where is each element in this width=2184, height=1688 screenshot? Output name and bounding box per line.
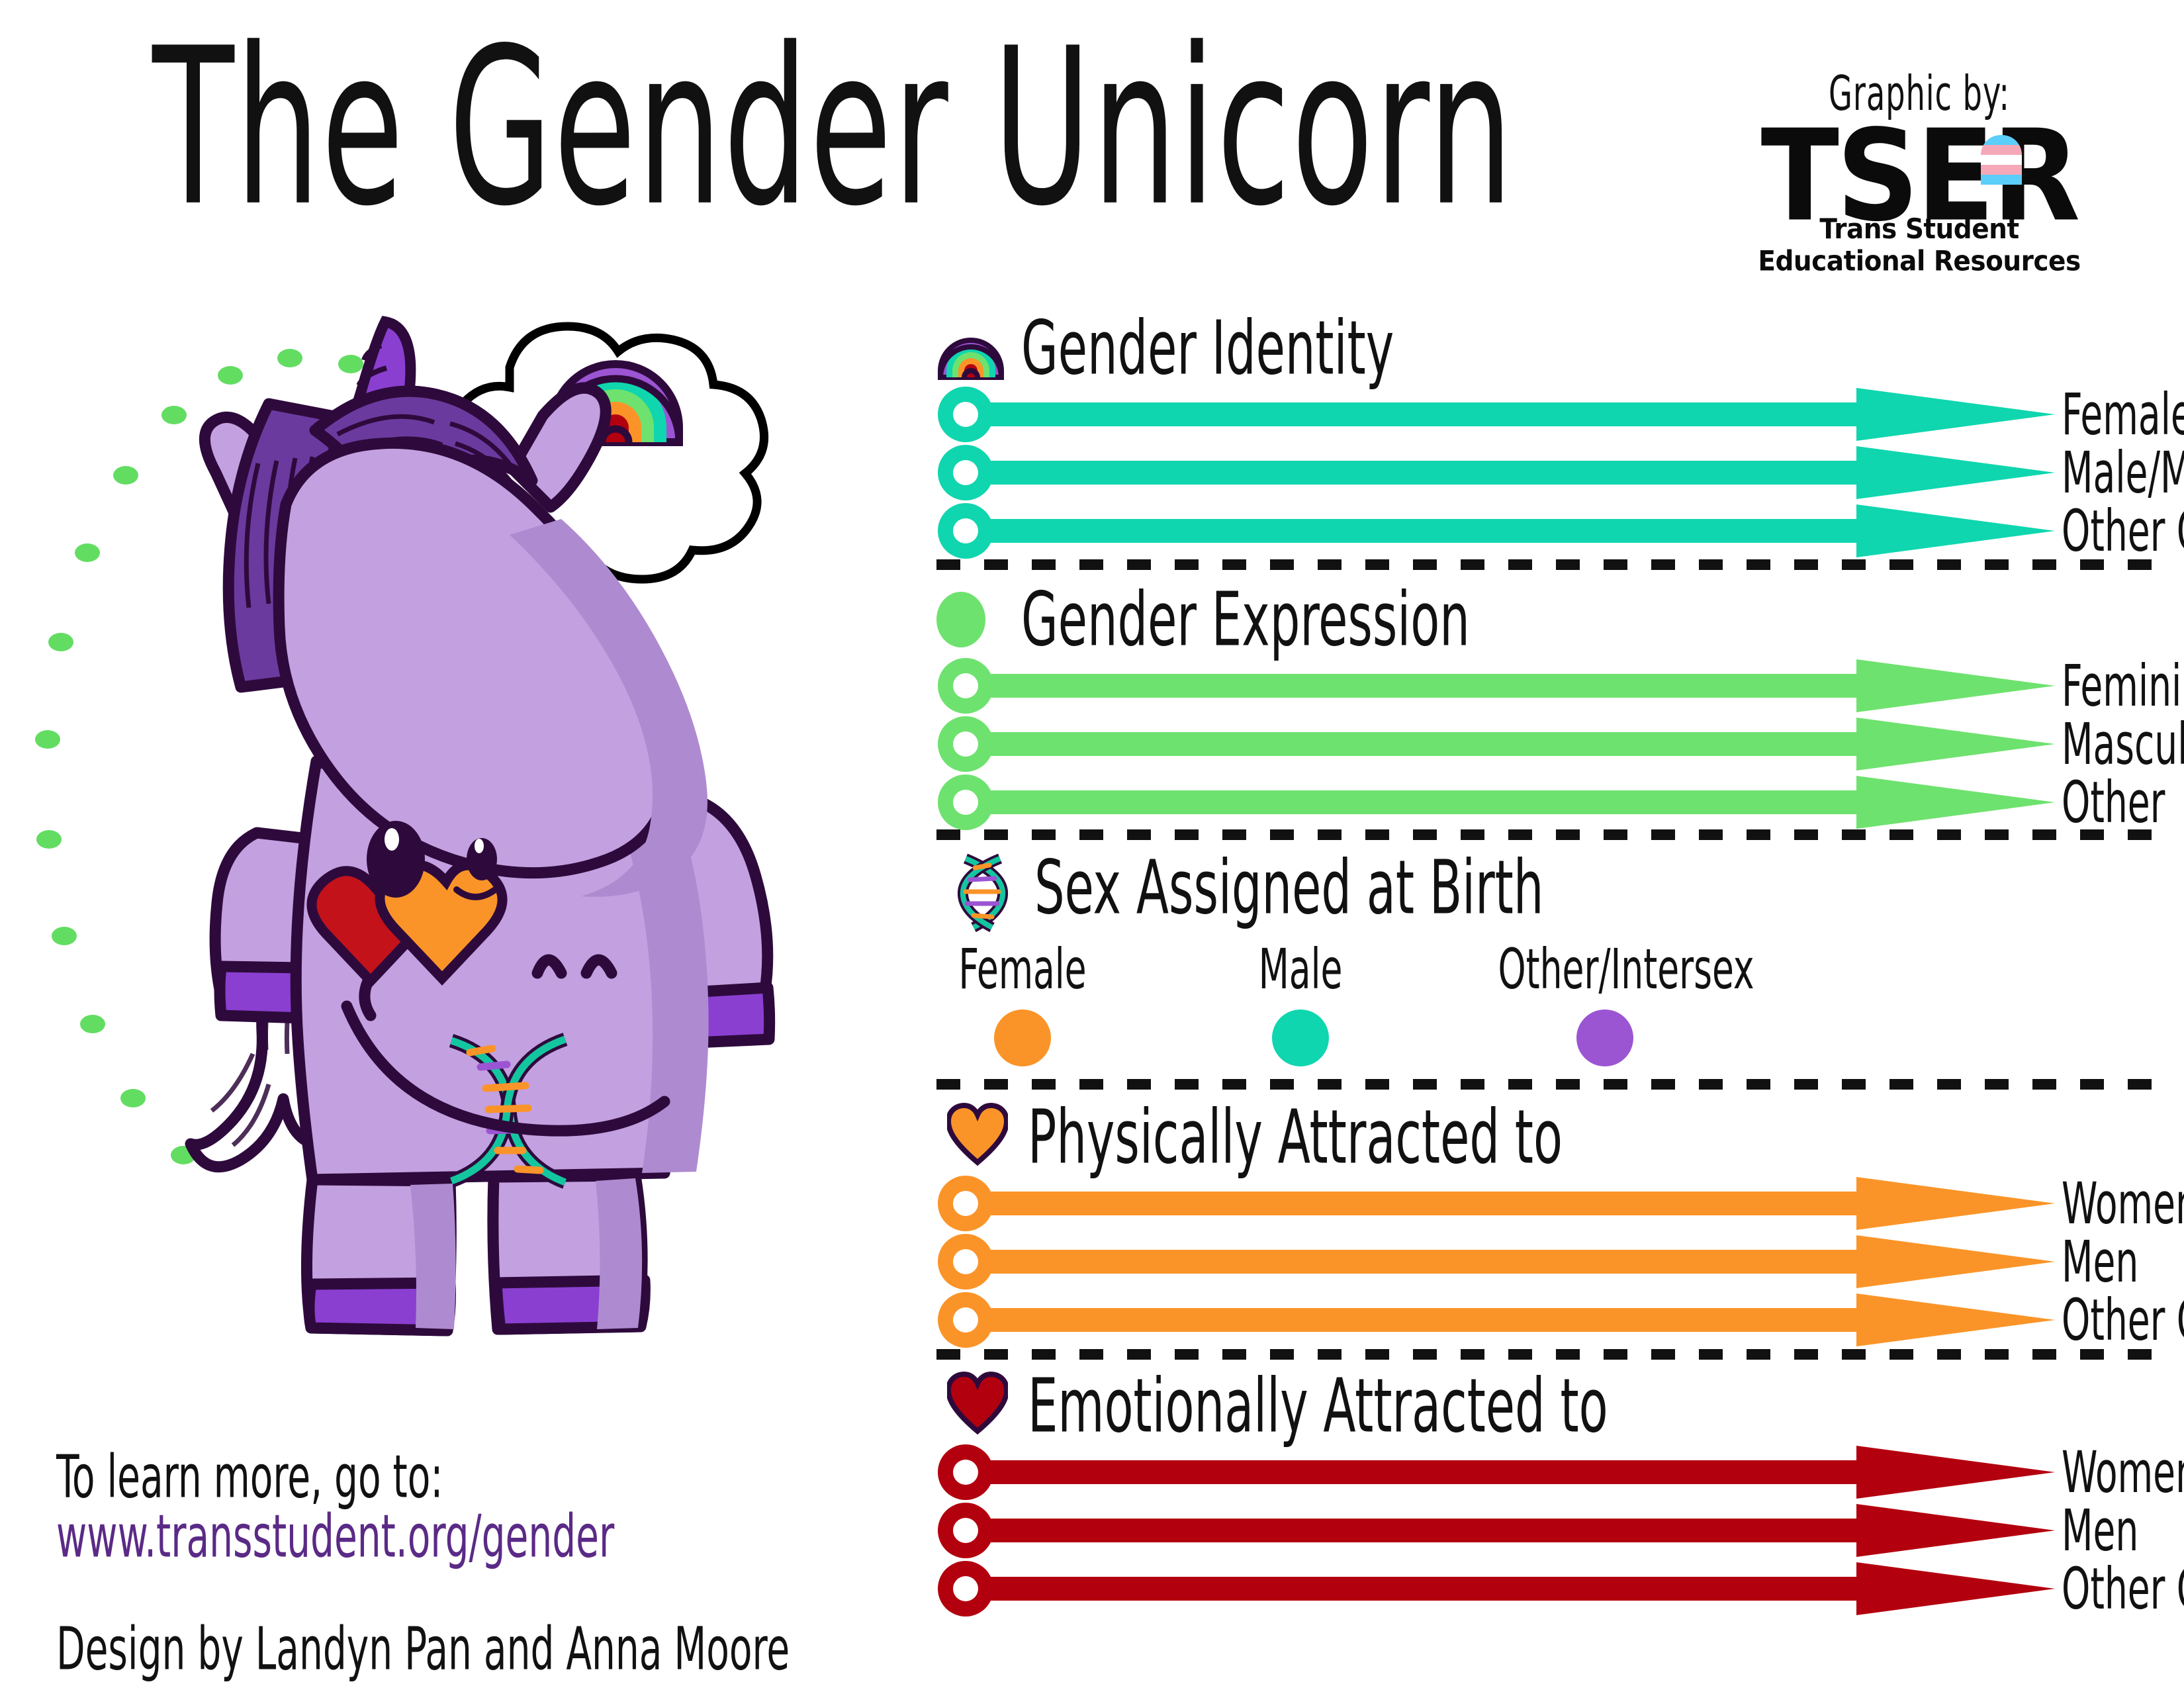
- section-gender-expression: Gender Expression Feminine Masculine Oth…: [936, 583, 2174, 831]
- section-title: Gender Expression: [1021, 577, 1470, 663]
- trans-flag-icon: [1981, 135, 2022, 185]
- tser-wordmark: TSER: [1747, 118, 2091, 217]
- section-title: Sex Assigned at Birth: [1034, 845, 1543, 931]
- sab-dot-other: [1576, 1009, 1633, 1066]
- arrow-label: Other Gender(s): [2062, 498, 2184, 565]
- arrow-label: Women: [2062, 1439, 2184, 1506]
- section-divider: [936, 1349, 2174, 1360]
- green-dot: [36, 830, 62, 849]
- dna-icon: [951, 853, 1012, 922]
- sab-label: Other/Intersex: [1498, 937, 1712, 1002]
- section-emotionally-attracted-to: Emotionally Attracted to Women Men Other…: [936, 1369, 2174, 1618]
- sab-dot-male: [1272, 1009, 1329, 1066]
- green-dot: [113, 466, 138, 485]
- arrow-row: Women: [936, 1174, 2174, 1233]
- green-dot: [80, 1015, 105, 1033]
- arrow-label: Masculine: [2062, 711, 2184, 778]
- section-title: Physically Attracted to: [1028, 1094, 1563, 1181]
- section-sex-assigned-at-birth: Sex Assigned at Birth Female Male Other/…: [936, 851, 2174, 925]
- tser-subtitle: Trans Student Educational Resources: [1747, 213, 2091, 277]
- arrow-row: Men: [936, 1233, 2174, 1291]
- green-dot: [48, 633, 73, 651]
- transstudent-url-link[interactable]: www.transstudent.org/gender: [56, 1503, 614, 1571]
- arrow-label: Female/Woman/Girl: [2062, 381, 2184, 448]
- green-dot: [35, 730, 60, 749]
- arrow-row: Other Gender(s): [936, 502, 2174, 560]
- arrow-label: Other: [2062, 769, 2165, 836]
- section-title: Gender Identity: [1021, 305, 1394, 392]
- unicorn-illustration: .ol{fill:none;stroke:#2E0A3C;stroke-widt…: [139, 305, 920, 1377]
- section-physically-attracted-to: Physically Attracted to Women Men Other …: [936, 1100, 2174, 1349]
- section-title: Emotionally Attracted to: [1028, 1363, 1608, 1450]
- learn-more-label: To learn more, go to:: [56, 1443, 443, 1511]
- section-divider: [936, 1079, 2174, 1090]
- arrow-label: Other Gender(s): [2062, 1556, 2184, 1622]
- arrow-row: Male/Man/Boy: [936, 444, 2174, 502]
- green-dot: [75, 543, 100, 562]
- arrow-row: Feminine: [936, 657, 2174, 715]
- arrow-row: Other Gender(s): [936, 1560, 2174, 1618]
- rainbow-icon: [936, 314, 1005, 383]
- arrow-label: Other Gender(s): [2062, 1287, 2184, 1354]
- arrow-row: Female/Woman/Girl: [936, 385, 2174, 444]
- arrow-label: Men: [2062, 1497, 2138, 1564]
- arrow-row: Women: [936, 1443, 2174, 1501]
- arrow-label: Women: [2062, 1170, 2184, 1237]
- arrow-row: Men: [936, 1501, 2174, 1560]
- orange-heart-icon: [947, 1103, 1008, 1172]
- arrow-label: Feminine: [2062, 653, 2184, 720]
- arrow-row: Other Gender(s): [936, 1291, 2174, 1349]
- sab-label: Female: [944, 937, 1101, 1002]
- sab-other: Other/Intersex: [1479, 937, 1731, 1066]
- arrow-row: Other: [936, 773, 2174, 831]
- sab-male: Male: [1208, 937, 1393, 1066]
- sab-dot-female: [994, 1009, 1051, 1066]
- design-credit: Design by Landyn Pan and Anna Moore: [56, 1615, 790, 1683]
- green-dot: [52, 927, 77, 945]
- arrow-label: Male/Man/Boy: [2062, 440, 2184, 506]
- sab-label: Male: [1222, 937, 1379, 1002]
- sab-female: Female: [930, 937, 1115, 1066]
- arrow-row: Masculine: [936, 715, 2174, 773]
- green-circle-icon: [936, 585, 985, 654]
- section-divider: [936, 559, 2174, 570]
- tser-logo: Graphic by: TSER Trans Student Education…: [1747, 66, 2091, 273]
- section-divider: [936, 829, 2174, 840]
- arrow-label: Men: [2062, 1229, 2138, 1295]
- section-gender-identity: Gender Identity Female/Woman/Girl Male/M…: [936, 311, 2174, 560]
- red-heart-icon: [947, 1372, 1008, 1440]
